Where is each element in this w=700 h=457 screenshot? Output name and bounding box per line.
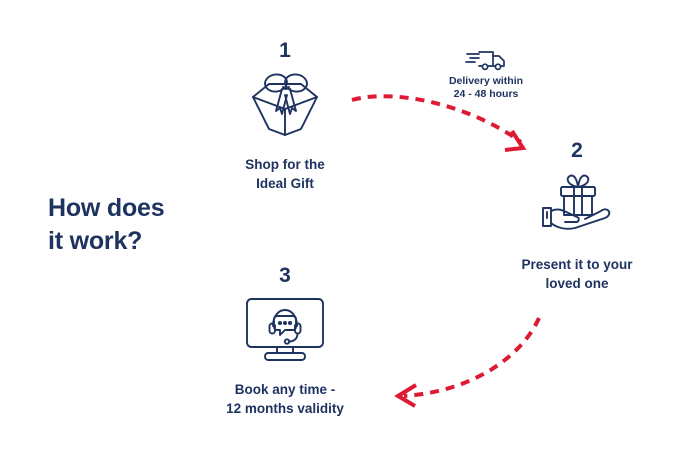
arrow-step2-to-step3 [398,318,539,406]
page-title: How does it work? [48,192,238,258]
delivery-note-text: Delivery within 24 - 48 hours [427,75,545,101]
page-title-line-2: it work? [48,225,238,258]
step-1: 1 Shop for the Ideal Gift [205,40,365,193]
step-2-number: 2 [497,140,657,161]
step-3-caption: Book any time - 12 months validity [205,380,365,418]
monitor-headset-icon [205,292,365,366]
delivery-truck-icon [427,48,545,72]
gift-box-icon [205,67,365,141]
step-2: 2 Present it to your loved one [497,140,657,293]
how-it-works-infographic: How does it work? 1 Shop for the Idea [0,0,700,457]
step-2-caption: Present it to your loved one [497,255,657,293]
hand-holding-gift-icon [497,167,657,241]
page-title-line-1: How does [48,192,238,225]
delivery-note: Delivery within 24 - 48 hours [427,48,545,101]
step-1-caption: Shop for the Ideal Gift [205,155,365,193]
step-3-number: 3 [205,265,365,286]
step-3: 3 [205,265,365,418]
step-1-number: 1 [205,40,365,61]
